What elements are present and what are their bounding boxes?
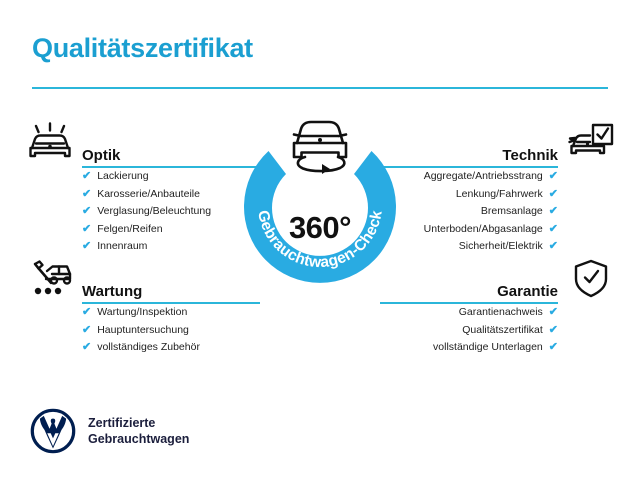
list-item-label: Unterboden/Abgasanlage bbox=[424, 221, 543, 239]
list-item-label: Bremsanlage bbox=[481, 203, 543, 221]
list-item-label: Verglasung/Beleuchtung bbox=[97, 203, 211, 221]
check-icon: ✔ bbox=[549, 342, 558, 353]
checklist-technik: ✔Aggregate/Antriebsstrang ✔Lenkung/Fahrw… bbox=[390, 168, 620, 256]
list-item: ✔Unterboden/Abgasanlage bbox=[390, 221, 558, 239]
list-item-label: Innenraum bbox=[97, 238, 147, 256]
check-icon: ✔ bbox=[549, 241, 558, 252]
list-item-label: Wartung/Inspektion bbox=[97, 304, 187, 322]
list-item-label: Sicherheit/Elektrik bbox=[459, 238, 543, 256]
list-item: ✔vollständige Unterlagen bbox=[390, 339, 558, 357]
section-header-technik: Technik bbox=[390, 122, 620, 168]
check-icon: ✔ bbox=[82, 325, 91, 336]
list-item-label: Garantienachweis bbox=[459, 304, 543, 322]
car-rotate-icon bbox=[281, 112, 359, 182]
list-item: ✔Innenraum bbox=[82, 238, 250, 256]
section-title-technik: Technik bbox=[502, 147, 558, 164]
check-icon: ✔ bbox=[82, 206, 91, 217]
check-icon: ✔ bbox=[549, 206, 558, 217]
page-title: Qualitätszertifikat bbox=[32, 33, 253, 64]
section-header-optik: Optik bbox=[20, 122, 250, 168]
list-item: ✔Sicherheit/Elektrik bbox=[390, 238, 558, 256]
check-icon: ✔ bbox=[549, 307, 558, 318]
section-technik: Technik ✔Aggregate/Antriebsstrang ✔Lenku… bbox=[390, 122, 620, 256]
list-item-label: Qualitätszertifikat bbox=[462, 322, 543, 340]
check-icon: ✔ bbox=[549, 224, 558, 235]
section-header-wartung: Wartung bbox=[20, 258, 250, 304]
list-item: ✔Verglasung/Beleuchtung bbox=[82, 203, 250, 221]
checklist-garantie: ✔Garantienachweis ✔Qualitätszertifikat ✔… bbox=[390, 304, 620, 357]
list-item: ✔vollständiges Zubehör bbox=[82, 339, 250, 357]
check-icon: ✔ bbox=[549, 189, 558, 200]
list-item: ✔Lackierung bbox=[82, 168, 250, 186]
check-icon: ✔ bbox=[549, 325, 558, 336]
list-item-label: Lenkung/Fahrwerk bbox=[456, 186, 543, 204]
check-icon: ✔ bbox=[82, 307, 91, 318]
section-title-garantie: Garantie bbox=[497, 283, 558, 300]
footer-line-1: Zertifizierte bbox=[88, 415, 189, 431]
check-icon: ✔ bbox=[82, 241, 91, 252]
badge-center-label: 360° bbox=[233, 210, 407, 246]
car-checkbox-icon bbox=[566, 122, 616, 166]
section-garantie: Garantie ✔Garantienachweis ✔Qualitätszer… bbox=[390, 258, 620, 357]
check-icon: ✔ bbox=[82, 342, 91, 353]
vw-logo-icon bbox=[30, 408, 76, 454]
list-item-label: Karosserie/Anbauteile bbox=[97, 186, 200, 204]
list-item-label: Aggregate/Antriebsstrang bbox=[424, 168, 543, 186]
checklist-optik: ✔Lackierung ✔Karosserie/Anbauteile ✔Verg… bbox=[20, 168, 250, 256]
footer-brand-text: Zertifizierte Gebrauchtwagen bbox=[88, 415, 189, 447]
list-item: ✔Lenkung/Fahrwerk bbox=[390, 186, 558, 204]
badge-360-gebrauchtwagen-check: Gebrauchtwagen-Check 360° bbox=[233, 118, 407, 292]
section-divider-wartung bbox=[82, 302, 260, 304]
check-icon: ✔ bbox=[549, 171, 558, 182]
list-item: ✔Wartung/Inspektion bbox=[82, 304, 250, 322]
certificate-page: Qualitätszertifikat bbox=[0, 0, 640, 480]
list-item-label: Hauptuntersuchung bbox=[97, 322, 189, 340]
footer-brand: Zertifizierte Gebrauchtwagen bbox=[30, 408, 189, 454]
check-icon: ✔ bbox=[82, 224, 91, 235]
list-item: ✔Karosserie/Anbauteile bbox=[82, 186, 250, 204]
shield-check-icon bbox=[566, 258, 616, 302]
section-title-optik: Optik bbox=[82, 147, 120, 164]
list-item: ✔Qualitätszertifikat bbox=[390, 322, 558, 340]
check-icon: ✔ bbox=[82, 189, 91, 200]
list-item-label: vollständiges Zubehör bbox=[97, 339, 200, 357]
section-optik: Optik ✔Lackierung ✔Karosserie/Anbauteile… bbox=[20, 122, 250, 256]
list-item-label: Lackierung bbox=[97, 168, 148, 186]
checklist-wartung: ✔Wartung/Inspektion ✔Hauptuntersuchung ✔… bbox=[20, 304, 250, 357]
list-item-label: vollständige Unterlagen bbox=[433, 339, 543, 357]
section-wartung: Wartung ✔Wartung/Inspektion ✔Hauptunters… bbox=[20, 258, 250, 357]
footer-line-2: Gebrauchtwagen bbox=[88, 431, 189, 447]
section-divider-garantie bbox=[380, 302, 558, 304]
list-item-label: Felgen/Reifen bbox=[97, 221, 162, 239]
list-item: ✔Felgen/Reifen bbox=[82, 221, 250, 239]
list-item: ✔Aggregate/Antriebsstrang bbox=[390, 168, 558, 186]
title-divider bbox=[32, 87, 608, 89]
list-item: ✔Bremsanlage bbox=[390, 203, 558, 221]
section-header-garantie: Garantie bbox=[390, 258, 620, 304]
car-shine-icon bbox=[26, 122, 76, 166]
section-title-wartung: Wartung bbox=[82, 283, 142, 300]
car-service-tool-icon bbox=[26, 258, 76, 302]
check-icon: ✔ bbox=[82, 171, 91, 182]
list-item: ✔Hauptuntersuchung bbox=[82, 322, 250, 340]
list-item: ✔Garantienachweis bbox=[390, 304, 558, 322]
